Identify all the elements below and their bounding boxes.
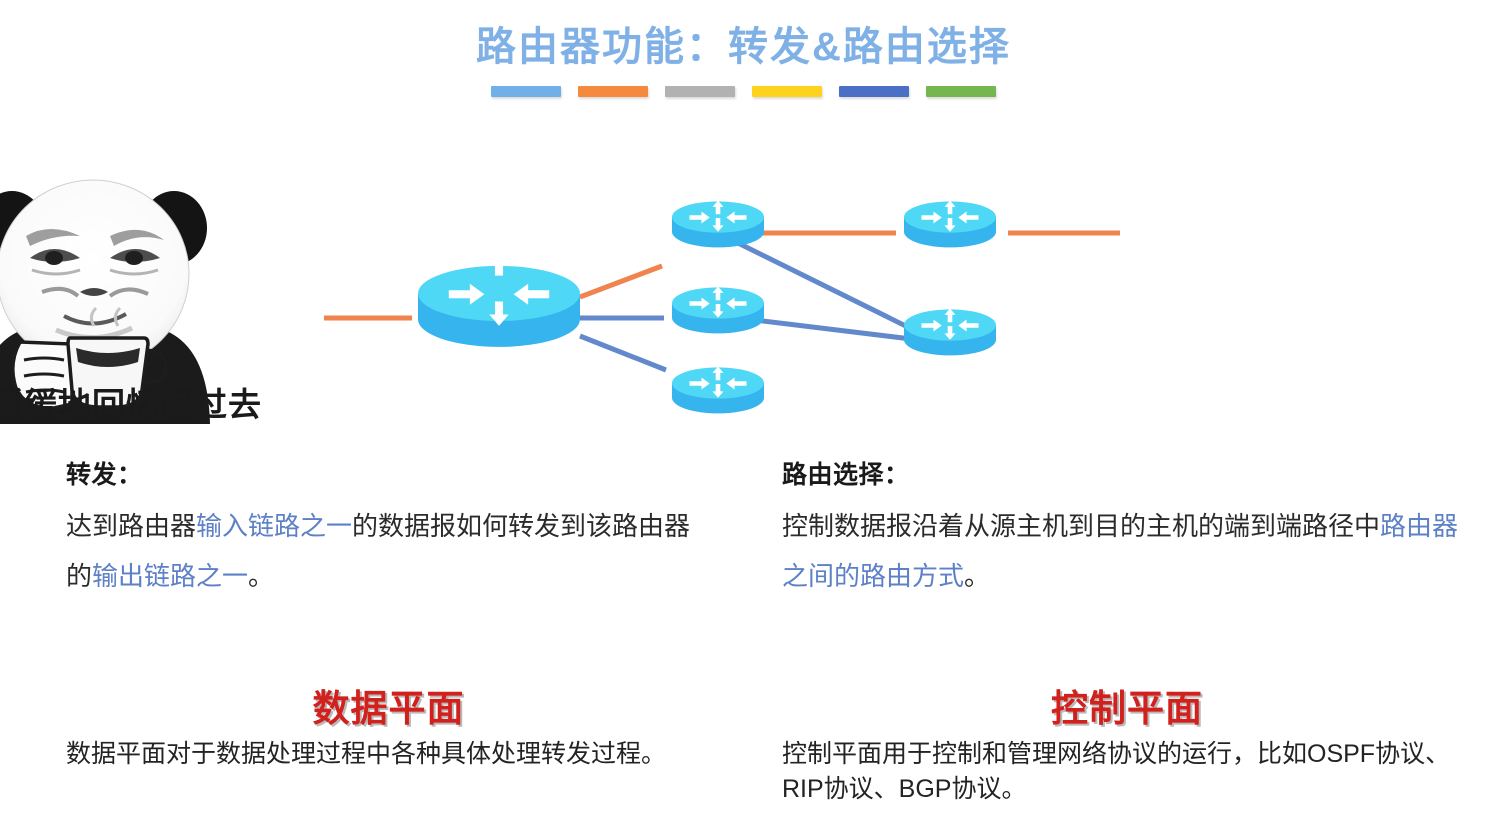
data-plane-heading: 数据平面 (66, 678, 711, 732)
forwarding-block: 转发： 达到路由器输入链路之一的数据报如何转发到该路由器的输出链路之一。 (66, 455, 711, 601)
rule-segment-indigo (839, 86, 909, 97)
rule-segment-green (926, 86, 996, 97)
control-plane-body: 控制平面用于控制和管理网络协议的运行，比如OSPF协议、RIP协议、BGP协议。 (782, 737, 1472, 807)
forwarding-text-3: 。 (248, 561, 274, 591)
routing-text-1: 控制数据报沿着从源主机到目的主机的端到端路径中 (782, 511, 1380, 541)
page-title: 路由器功能：转发&路由选择 (0, 14, 1487, 72)
title-rule-bars (0, 86, 1487, 97)
routing-text-2: 。 (964, 561, 990, 591)
definitions-row: 转发： 达到路由器输入链路之一的数据报如何转发到该路由器的输出链路之一。 路由选… (0, 455, 1487, 615)
planes-row: 数据平面 数据平面对于数据处理过程中各种具体处理转发过程。 控制平面 控制平面用… (0, 678, 1487, 819)
routing-body: 控制数据报沿着从源主机到目的主机的端到端路径中路由器之间的路由方式。 (782, 501, 1482, 601)
network-topology (300, 180, 1150, 430)
routing-heading: 路由选择： (782, 455, 1482, 491)
forwarding-highlight-output: 输出链路之一 (92, 561, 248, 591)
router-far-mid[interactable] (904, 308, 996, 355)
control-plane-block: 控制平面 控制平面用于控制和管理网络协议的运行，比如OSPF协议、RIP协议、B… (782, 678, 1472, 807)
data-plane-block: 数据平面 数据平面对于数据处理过程中各种具体处理转发过程。 (66, 678, 711, 772)
forwarding-text-1: 达到路由器 (66, 511, 196, 541)
rule-segment-yellow (752, 86, 822, 97)
router-core[interactable] (418, 251, 580, 347)
routing-block: 路由选择： 控制数据报沿着从源主机到目的主机的端到端路径中路由器之间的路由方式。 (782, 455, 1482, 601)
rule-segment-gray (665, 86, 735, 97)
router-branch-bot[interactable] (672, 366, 764, 413)
forwarding-highlight-input: 输入链路之一 (196, 511, 352, 541)
router-branch-mid[interactable] (672, 286, 764, 333)
control-plane-heading: 控制平面 (782, 678, 1472, 732)
router-far-top[interactable] (904, 200, 996, 247)
link-core-to-top (580, 266, 662, 297)
rule-segment-orange (578, 86, 648, 97)
meme-caption: 缓缓地回忆起过去 (0, 378, 245, 426)
router-branch-top[interactable] (672, 200, 764, 247)
link-core-to-bot (580, 336, 666, 370)
forwarding-body: 达到路由器输入链路之一的数据报如何转发到该路由器的输出链路之一。 (66, 501, 711, 601)
data-plane-body: 数据平面对于数据处理过程中各种具体处理转发过程。 (66, 737, 711, 772)
rule-segment-blue (491, 86, 561, 97)
forwarding-heading: 转发： (66, 455, 711, 491)
